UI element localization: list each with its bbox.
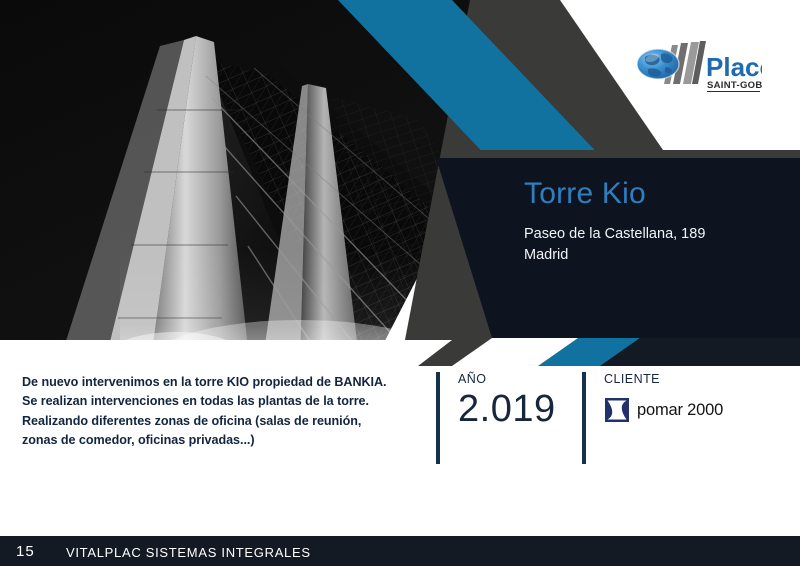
description-line-3: Realizando diferentes zonas de oficina (… [22, 412, 422, 431]
client-name: pomar 2000 [637, 401, 723, 420]
page-number: 15 [16, 543, 35, 560]
slide-footer: 15 VITALPLAC SISTEMAS INTEGRALES [0, 536, 800, 566]
address-line-2: Madrid [524, 245, 794, 266]
year-label: AÑO [458, 372, 556, 386]
white-base-left [0, 340, 452, 366]
year-value: 2.019 [458, 390, 556, 428]
project-description: De nuevo intervenimos en la torre KIO pr… [22, 373, 422, 450]
footer-title: VITALPLAC SISTEMAS INTEGRALES [66, 545, 311, 560]
saint-gobain-tagline: SAINT-GOBAIN [707, 80, 762, 91]
placo-logo[interactable]: Placo SAINT-GOBAIN [636, 40, 762, 98]
description-line-1: De nuevo intervenimos en la torre KIO pr… [22, 373, 422, 392]
client-logo[interactable]: pomar 2000 [604, 397, 723, 423]
placo-logo-svg: Placo SAINT-GOBAIN [636, 40, 762, 98]
project-address: Paseo de la Castellana, 189 Madrid [524, 224, 794, 266]
hero-banner: Torre Kio Paseo de la Castellana, 189 Ma… [0, 0, 800, 366]
project-title-block: Torre Kio Paseo de la Castellana, 189 Ma… [524, 178, 794, 266]
meta-divider-left [436, 372, 440, 464]
client-label: CLIENTE [604, 372, 723, 386]
page-title: Torre Kio [524, 178, 794, 210]
pomar-diamond-logo-icon [604, 397, 630, 423]
globe-icon [637, 49, 679, 79]
placo-wordmark: Placo [706, 52, 762, 82]
slide-canvas: Torre Kio Paseo de la Castellana, 189 Ma… [0, 0, 800, 566]
description-line-4: zonas de comedor, oficinas privadas...) [22, 431, 422, 450]
description-line-2: Se realizan intervenciones en todas las … [22, 392, 422, 411]
meta-divider-right [582, 372, 586, 464]
client-block: CLIENTE pomar 2000 [604, 372, 723, 423]
project-meta: AÑO 2.019 CLIENTE pomar 2000 [436, 372, 796, 468]
year-block: AÑO 2.019 [458, 372, 556, 428]
content-area: De nuevo intervenimos en la torre KIO pr… [0, 366, 800, 536]
address-line-1: Paseo de la Castellana, 189 [524, 224, 794, 245]
